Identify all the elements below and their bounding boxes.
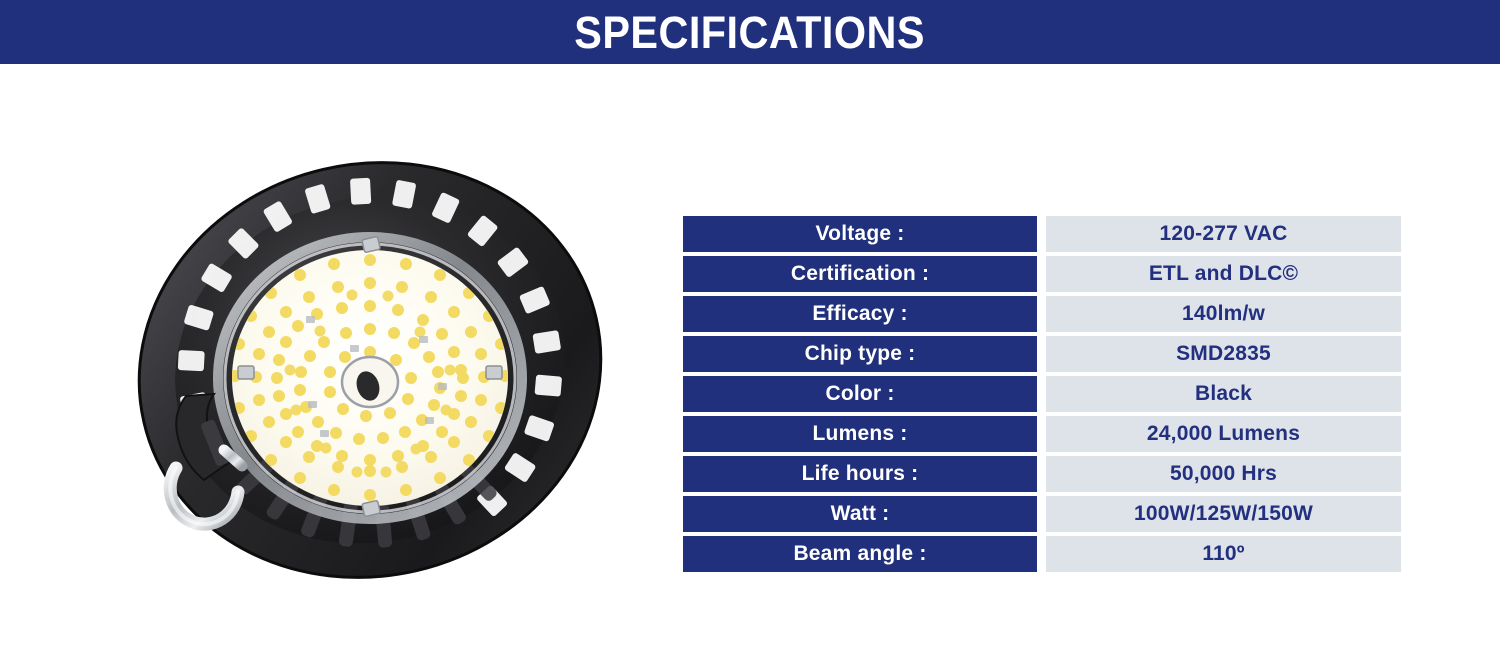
column-gap (1037, 376, 1046, 412)
table-row: Beam angle : 110º (683, 536, 1401, 572)
column-gap (1037, 496, 1046, 532)
column-gap (1037, 296, 1046, 332)
page-header-band: SPECIFICATIONS (0, 0, 1500, 64)
table-row: Color : Black (683, 376, 1401, 412)
specifications-page: SPECIFICATIONS (0, 0, 1500, 650)
spec-value-efficacy: 140lm/w (1046, 296, 1401, 332)
table-row: Watt : 100W/125W/150W (683, 496, 1401, 532)
spec-value-voltage: 120-277 VAC (1046, 216, 1401, 252)
column-gap (1037, 336, 1046, 372)
spec-label-watt: Watt : (683, 496, 1037, 532)
spec-label-beam-angle: Beam angle : (683, 536, 1037, 572)
spec-value-beam-angle: 110º (1046, 536, 1401, 572)
spec-value-lumens: 24,000 Lumens (1046, 416, 1401, 452)
spec-label-efficacy: Efficacy : (683, 296, 1037, 332)
spec-label-color: Color : (683, 376, 1037, 412)
spec-value-certification: ETL and DLC© (1046, 256, 1401, 292)
spec-label-lumens: Lumens : (683, 416, 1037, 452)
table-row: Efficacy : 140lm/w (683, 296, 1401, 332)
spec-value-watt: 100W/125W/150W (1046, 496, 1401, 532)
column-gap (1037, 536, 1046, 572)
table-row: Voltage : 120-277 VAC (683, 216, 1401, 252)
page-title: SPECIFICATIONS (575, 10, 926, 55)
column-gap (1037, 456, 1046, 492)
table-row: Lumens : 24,000 Lumens (683, 416, 1401, 452)
spec-label-chip-type: Chip type : (683, 336, 1037, 372)
product-image (120, 120, 640, 620)
table-row: Certification : ETL and DLC© (683, 256, 1401, 292)
spec-label-life-hours: Life hours : (683, 456, 1037, 492)
spec-label-voltage: Voltage : (683, 216, 1037, 252)
ufo-high-bay-light-illustration (120, 120, 640, 620)
spec-value-life-hours: 50,000 Hrs (1046, 456, 1401, 492)
table-row: Life hours : 50,000 Hrs (683, 456, 1401, 492)
column-gap (1037, 256, 1046, 292)
column-gap (1037, 416, 1046, 452)
column-gap (1037, 216, 1046, 252)
spec-value-chip-type: SMD2835 (1046, 336, 1401, 372)
table-row: Chip type : SMD2835 (683, 336, 1401, 372)
specifications-table: Voltage : 120-277 VAC Certification : ET… (683, 216, 1401, 572)
spec-value-color: Black (1046, 376, 1401, 412)
center-boss (342, 357, 398, 407)
spec-label-certification: Certification : (683, 256, 1037, 292)
